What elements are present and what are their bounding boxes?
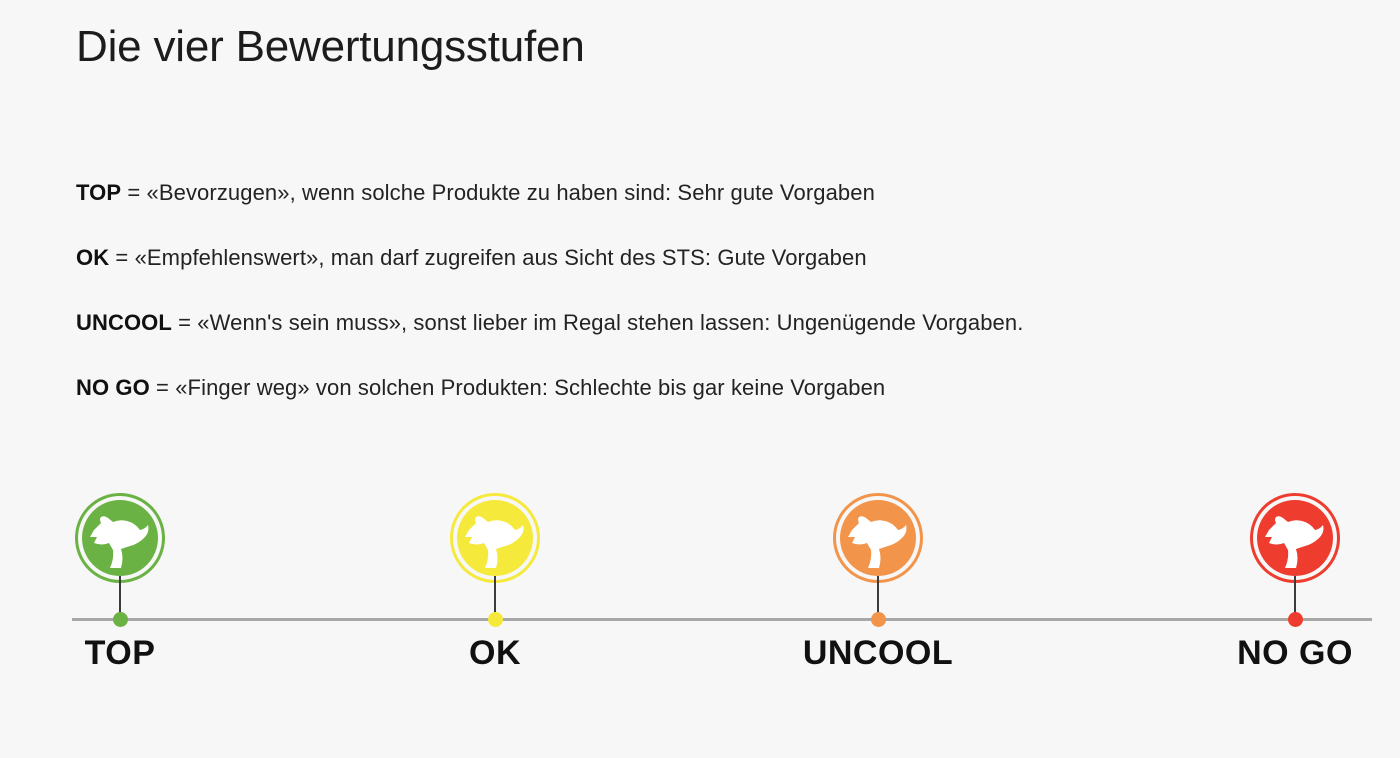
definition-item-ok: OK = «Empfehlenswert», man darf zugreife… — [76, 225, 1336, 290]
definition-description: = «Bevorzugen», wenn solche Produkte zu … — [121, 180, 875, 205]
stage-dot — [488, 612, 503, 627]
definition-term: TOP — [76, 180, 121, 205]
definition-term: UNCOOL — [76, 310, 172, 335]
scale-axis-line — [72, 618, 1372, 621]
stage-badge — [840, 500, 916, 576]
stage-badge — [82, 500, 158, 576]
definition-term: NO GO — [76, 375, 150, 400]
definition-term: OK — [76, 245, 109, 270]
scale-stage-nogo: NO GO — [1185, 470, 1400, 690]
scale-stage-ok: OK — [385, 470, 605, 690]
stage-badge — [1257, 500, 1333, 576]
definition-description: = «Empfehlenswert», man darf zugreifen a… — [109, 245, 866, 270]
definition-item-uncool: UNCOOL = «Wenn's sein muss», sonst liebe… — [76, 290, 1336, 355]
definition-description: = «Wenn's sein muss», sonst lieber im Re… — [172, 310, 1023, 335]
definition-item-nogo: NO GO = «Finger weg» von solchen Produkt… — [76, 355, 1336, 420]
scale-stage-uncool: UNCOOL — [768, 470, 988, 690]
stage-label: NO GO — [1185, 634, 1400, 673]
slide-root: Die vier Bewertungsstufen TOP = «Bevorzu… — [0, 0, 1400, 758]
goat-head-icon — [463, 510, 527, 568]
badge-disc — [82, 500, 158, 576]
goat-head-icon — [846, 510, 910, 568]
badge-disc — [457, 500, 533, 576]
stage-label: OK — [385, 634, 605, 673]
goat-head-icon — [88, 510, 152, 568]
stage-dot — [1288, 612, 1303, 627]
page-title: Die vier Bewertungsstufen — [76, 22, 585, 72]
definition-description: = «Finger weg» von solchen Produkten: Sc… — [150, 375, 885, 400]
stage-badge — [457, 500, 533, 576]
stage-dot — [871, 612, 886, 627]
stage-dot — [113, 612, 128, 627]
scale-stage-top: TOP — [10, 470, 230, 690]
stage-label: TOP — [10, 634, 230, 673]
badge-disc — [840, 500, 916, 576]
definition-item-top: TOP = «Bevorzugen», wenn solche Produkte… — [76, 160, 1336, 225]
stage-label: UNCOOL — [768, 634, 988, 673]
goat-head-icon — [1263, 510, 1327, 568]
definition-list: TOP = «Bevorzugen», wenn solche Produkte… — [76, 160, 1336, 420]
badge-disc — [1257, 500, 1333, 576]
rating-scale: TOP OK — [0, 470, 1400, 690]
